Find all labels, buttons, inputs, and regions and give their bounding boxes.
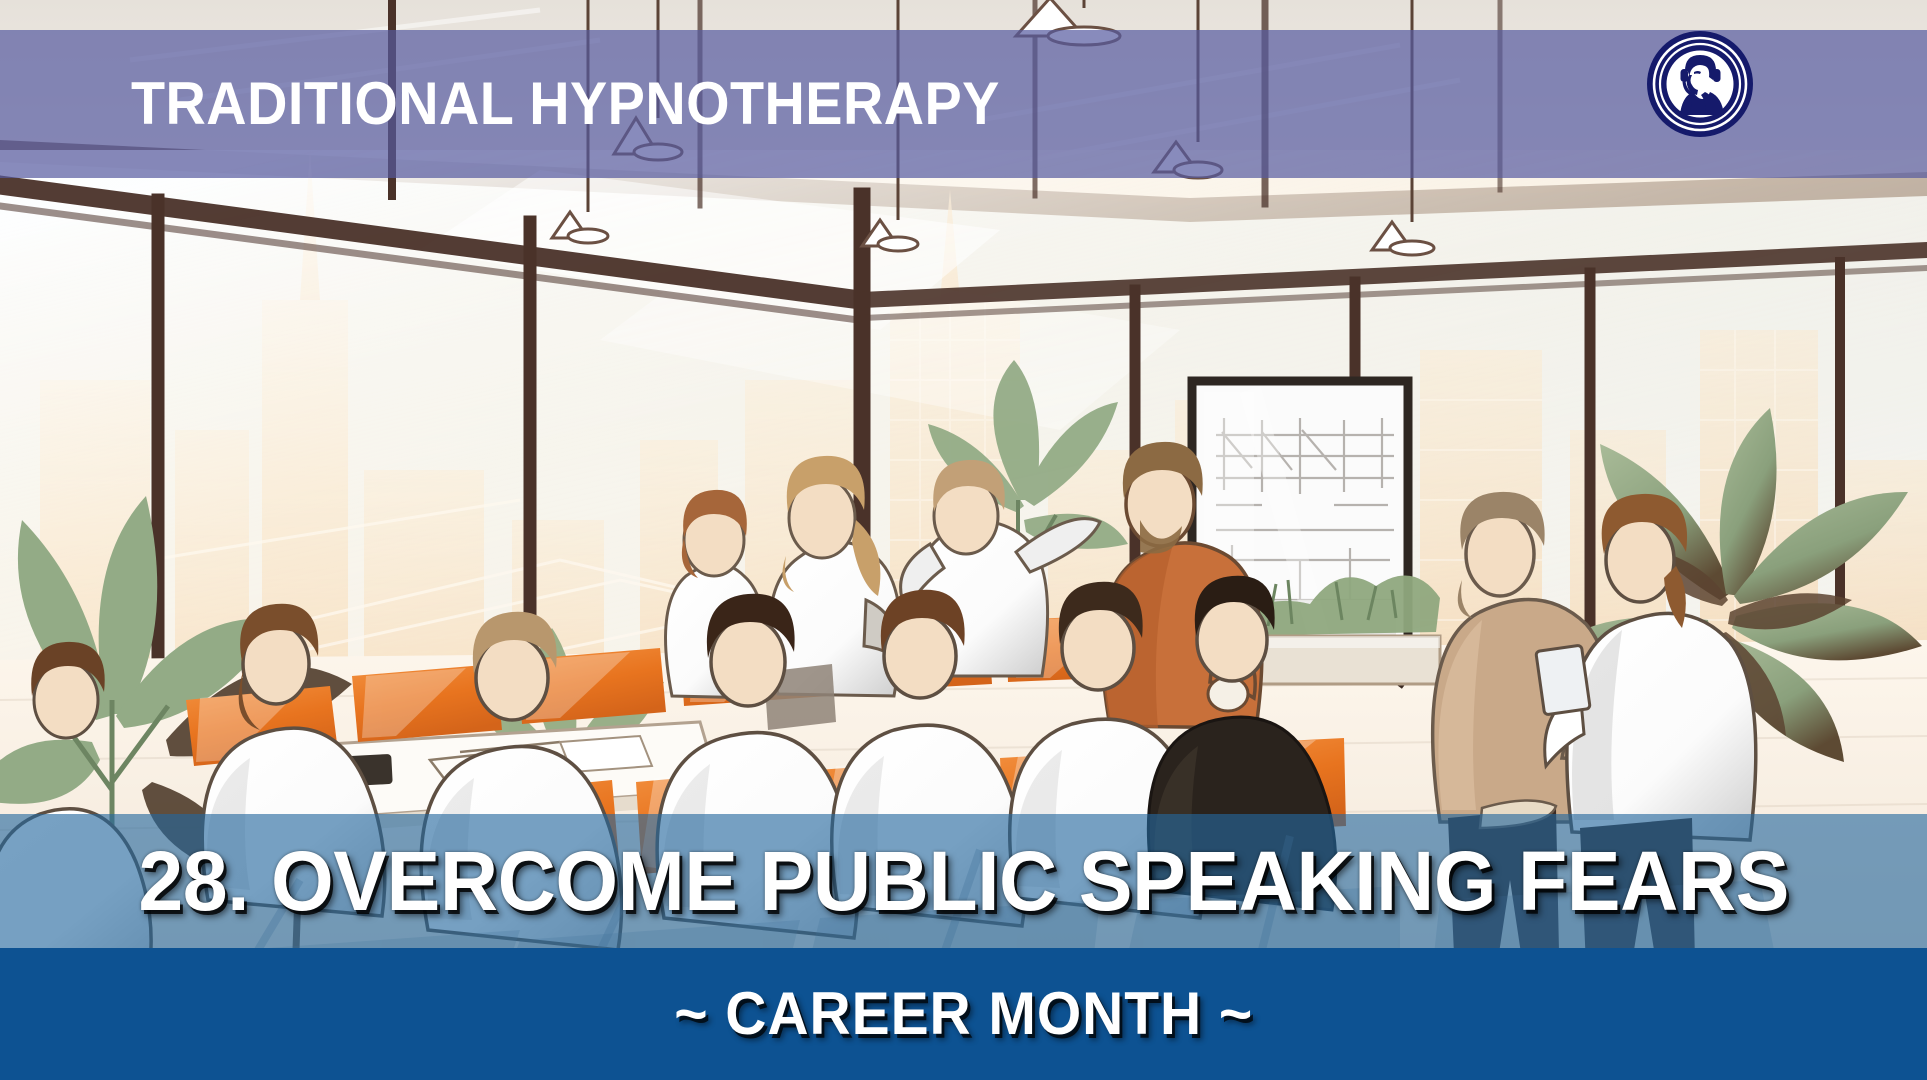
poster-canvas: TRADITIONAL HYPNOTHERAPY xyxy=(0,0,1927,1080)
brand-banner: TRADITIONAL HYPNOTHERAPY xyxy=(0,30,1927,178)
title-band xyxy=(0,814,1927,948)
subtitle-text: ~ CAREER MONTH ~ xyxy=(674,984,1253,1044)
woman-with-headphones-badge-icon[interactable] xyxy=(1647,31,1753,137)
subtitle-band: ~ CAREER MONTH ~ xyxy=(0,948,1927,1080)
brand-title: TRADITIONAL HYPNOTHERAPY xyxy=(131,74,1000,134)
